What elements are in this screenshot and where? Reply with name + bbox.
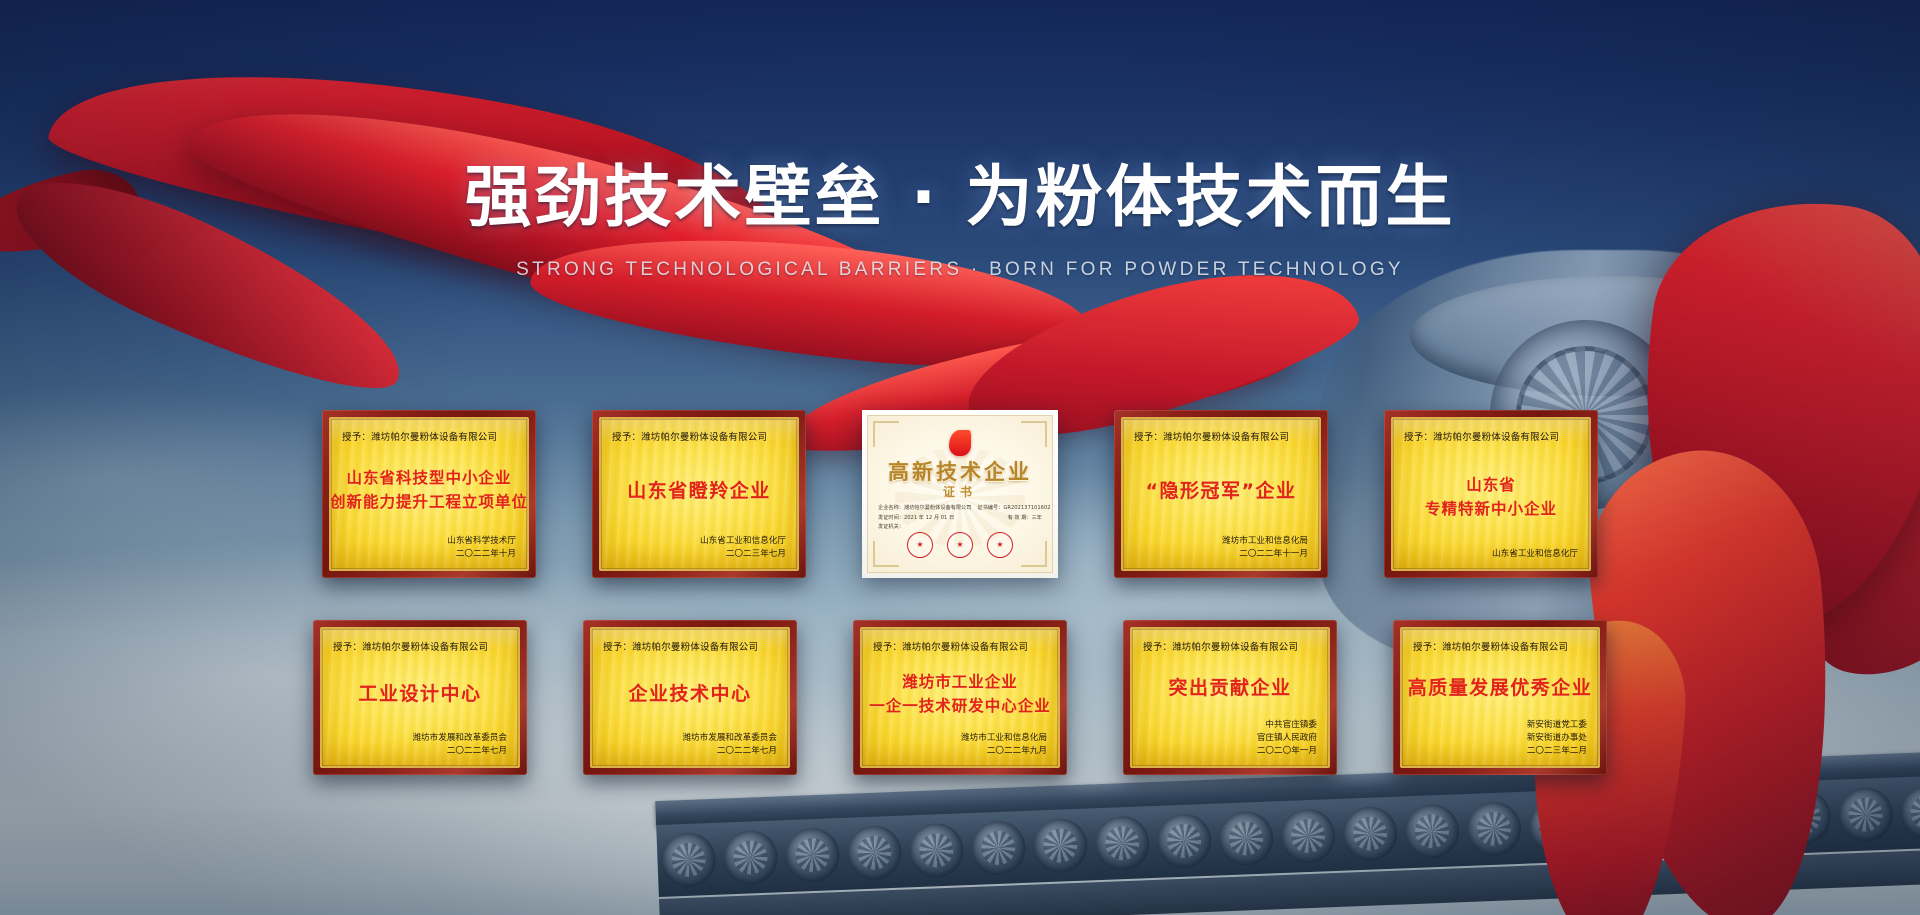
plaque-recipient-line: 授予：潍坊帕尔曼粉体设备有限公司 [1413,639,1587,653]
high-tech-enterprise-certificate[interactable]: 高新技术企业证书企业名称：潍坊帕尔曼粉体设备有限公司证书编号：GR2021371… [862,410,1058,578]
award-plaque[interactable]: 授予：潍坊帕尔曼粉体设备有限公司潍坊市工业企业一企一技术研发中心企业潍坊市工业和… [853,620,1067,775]
plaque-field: 授予：潍坊帕尔曼粉体设备有限公司“隐形冠军”企业潍坊市工业和信息化局二〇二二年十… [1123,419,1319,569]
certificate-corner-ornament-icon [1021,421,1047,447]
plaque-title-group: “隐形冠军”企业 [1134,445,1308,533]
plaque-issuer: 山东省工业和信息化厅 [1404,548,1578,561]
honors-gallery: 授予：潍坊帕尔曼粉体设备有限公司山东省科技型中小企业创新能力提升工程立项单位山东… [0,410,1920,775]
plaque-field: 授予：潍坊帕尔曼粉体设备有限公司突出贡献企业中共官庄镇委官庄镇人民政府二〇二〇年… [1132,629,1328,766]
plaque-title-group: 潍坊市工业企业一企一技术研发中心企业 [873,655,1047,730]
award-plaque[interactable]: 授予：潍坊帕尔曼粉体设备有限公司工业设计中心潍坊市发展和改革委员会二〇二二年七月 [313,620,527,775]
plaque-title-line: 山东省瞪羚企业 [627,476,771,503]
plaque-title-line: 创新能力提升工程立项单位 [331,490,527,512]
plaque-title-group: 山东省科技型中小企业创新能力提升工程立项单位 [342,445,516,533]
certificate-field-row: 企业名称：潍坊帕尔曼粉体设备有限公司证书编号：GR202137101602 [878,504,1042,514]
plaque-recipient-line: 授予：潍坊帕尔曼粉体设备有限公司 [333,639,507,653]
plaque-recipient-line: 授予：潍坊帕尔曼粉体设备有限公司 [873,639,1047,653]
plaque-issuer: 官庄镇人民政府 [1143,732,1317,745]
plaque-field: 授予：潍坊帕尔曼粉体设备有限公司山东省专精特新中小企业山东省工业和信息化厅 [1393,419,1589,569]
certificate-inner: 高新技术企业证书企业名称：潍坊帕尔曼粉体设备有限公司证书编号：GR2021371… [867,415,1053,573]
plaque-title-group: 山东省瞪羚企业 [612,445,786,533]
headline-block: 强劲技术壁垒 · 为粉体技术而生 STRONG TECHNOLOGICAL BA… [0,160,1920,281]
award-plaque[interactable]: 授予：潍坊帕尔曼粉体设备有限公司企业技术中心潍坊市发展和改革委员会二〇二二年七月 [583,620,797,775]
plaque-title-line: 专精特新中小企业 [1425,497,1557,519]
certificate-seal-group [868,532,1052,558]
plaque-field: 授予：潍坊帕尔曼粉体设备有限公司工业设计中心潍坊市发展和改革委员会二〇二二年七月 [322,629,518,766]
plaque-date: 二〇二〇年一月 [1143,745,1317,758]
plaque-recipient-line: 授予：潍坊帕尔曼粉体设备有限公司 [1143,639,1317,653]
honors-row-2: 授予：潍坊帕尔曼粉体设备有限公司工业设计中心潍坊市发展和改革委员会二〇二二年七月… [0,620,1920,775]
plaque-issuer-block: 潍坊市发展和改革委员会二〇二二年七月 [603,732,777,758]
plaque-issuer: 新安街道党工委 [1413,719,1587,732]
plaque-title-line: 工业设计中心 [358,679,481,706]
plaque-title-group: 高质量发展优秀企业 [1413,655,1587,717]
banner-stage: 强劲技术壁垒 · 为粉体技术而生 STRONG TECHNOLOGICAL BA… [0,0,1920,915]
plaque-recipient-line: 授予：潍坊帕尔曼粉体设备有限公司 [612,429,786,443]
plaque-title-line: “隐形冠军”企业 [1146,476,1297,503]
award-plaque[interactable]: 授予：潍坊帕尔曼粉体设备有限公司高质量发展优秀企业新安街道党工委新安街道办事处二… [1393,620,1607,775]
plaque-date: 二〇二三年二月 [1413,745,1587,758]
plaque-title-group: 山东省专精特新中小企业 [1404,445,1578,546]
award-plaque[interactable]: 授予：潍坊帕尔曼粉体设备有限公司“隐形冠军”企业潍坊市工业和信息化局二〇二二年十… [1114,410,1328,578]
plaque-recipient-line: 授予：潍坊帕尔曼粉体设备有限公司 [603,639,777,653]
certificate-corner-ornament-icon [873,421,899,447]
certificate-title: 高新技术企业 [868,456,1052,486]
certificate-field-right: 有 效 期：三年 [1008,514,1042,524]
certificate-field-right: 证书编号：GR202137101602 [977,504,1050,514]
plaque-issuer-block: 中共官庄镇委官庄镇人民政府二〇二〇年一月 [1143,719,1317,758]
plaque-field: 授予：潍坊帕尔曼粉体设备有限公司山东省瞪羚企业山东省工业和信息化厅二〇二三年七月 [601,419,797,569]
plaque-issuer: 山东省工业和信息化厅 [612,535,786,548]
plaque-title-line: 突出贡献企业 [1168,673,1291,700]
certificate-field-row: 发证时间：2021 年 12 月 01 日有 效 期：三年 [878,514,1042,524]
plaque-issuer: 潍坊市工业和信息化局 [1134,535,1308,548]
plaque-field: 授予：潍坊帕尔曼粉体设备有限公司高质量发展优秀企业新安街道党工委新安街道办事处二… [1402,629,1598,766]
plaque-issuer: 新安街道办事处 [1413,732,1587,745]
plaque-recipient-line: 授予：潍坊帕尔曼粉体设备有限公司 [1134,429,1308,443]
plaque-title-line: 一企一技术研发中心企业 [869,694,1051,716]
certificate-field-left: 发证时间：2021 年 12 月 01 日 [878,514,954,524]
plaque-title-group: 工业设计中心 [333,655,507,730]
plaque-issuer: 山东省科学技术厅 [342,535,516,548]
plaque-recipient-line: 授予：潍坊帕尔曼粉体设备有限公司 [342,429,516,443]
honors-row-1: 授予：潍坊帕尔曼粉体设备有限公司山东省科技型中小企业创新能力提升工程立项单位山东… [0,410,1920,578]
plaque-field: 授予：潍坊帕尔曼粉体设备有限公司潍坊市工业企业一企一技术研发中心企业潍坊市工业和… [862,629,1058,766]
award-plaque[interactable]: 授予：潍坊帕尔曼粉体设备有限公司突出贡献企业中共官庄镇委官庄镇人民政府二〇二〇年… [1123,620,1337,775]
plaque-issuer-block: 山东省工业和信息化厅二〇二三年七月 [612,535,786,561]
plaque-issuer-block: 潍坊市工业和信息化局二〇二二年九月 [873,732,1047,758]
award-plaque[interactable]: 授予：潍坊帕尔曼粉体设备有限公司山东省专精特新中小企业山东省工业和信息化厅 [1384,410,1598,578]
page-subtitle: STRONG TECHNOLOGICAL BARRIERS · BORN FOR… [0,259,1920,281]
plaque-issuer-block: 潍坊市发展和改革委员会二〇二二年七月 [333,732,507,758]
plaque-issuer-block: 山东省科学技术厅二〇二二年十月 [342,535,516,561]
plaque-date: 二〇二二年七月 [333,745,507,758]
plaque-date: 二〇二二年七月 [603,745,777,758]
plaque-title-line: 山东省 [1466,473,1516,495]
plaque-field: 授予：潍坊帕尔曼粉体设备有限公司企业技术中心潍坊市发展和改革委员会二〇二二年七月 [592,629,788,766]
page-title: 强劲技术壁垒 · 为粉体技术而生 [0,160,1920,235]
plaque-title-group: 突出贡献企业 [1143,655,1317,717]
award-plaque[interactable]: 授予：潍坊帕尔曼粉体设备有限公司山东省瞪羚企业山东省工业和信息化厅二〇二三年七月 [592,410,806,578]
plaque-title-line: 企业技术中心 [628,679,751,706]
plaque-issuer: 潍坊市工业和信息化局 [873,732,1047,745]
certificate-subtitle: 证书 [868,483,1052,500]
plaque-issuer: 潍坊市发展和改革委员会 [333,732,507,745]
certificate-field-left: 企业名称：潍坊帕尔曼粉体设备有限公司 [878,504,971,514]
plaque-issuer-block: 山东省工业和信息化厅 [1404,548,1578,561]
plaque-date: 二〇二二年十一月 [1134,548,1308,561]
plaque-recipient-line: 授予：潍坊帕尔曼粉体设备有限公司 [1404,429,1578,443]
official-red-seal-icon [947,532,973,558]
official-red-seal-icon [987,532,1013,558]
plaque-title-line: 潍坊市工业企业 [902,670,1018,692]
plaque-title-line: 高质量发展优秀企业 [1408,673,1593,700]
flame-emblem-icon [949,430,971,456]
plaque-title-group: 企业技术中心 [603,655,777,730]
plaque-title-line: 山东省科技型中小企业 [346,466,511,488]
plaque-date: 二〇二三年七月 [612,548,786,561]
plaque-date: 二〇二二年九月 [873,745,1047,758]
plaque-issuer: 潍坊市发展和改革委员会 [603,732,777,745]
plaque-field: 授予：潍坊帕尔曼粉体设备有限公司山东省科技型中小企业创新能力提升工程立项单位山东… [331,419,527,569]
plaque-date: 二〇二二年十月 [342,548,516,561]
award-plaque[interactable]: 授予：潍坊帕尔曼粉体设备有限公司山东省科技型中小企业创新能力提升工程立项单位山东… [322,410,536,578]
official-red-seal-icon [907,532,933,558]
plaque-issuer-block: 新安街道党工委新安街道办事处二〇二三年二月 [1413,719,1587,758]
plaque-issuer: 中共官庄镇委 [1143,719,1317,732]
plaque-issuer-block: 潍坊市工业和信息化局二〇二二年十一月 [1134,535,1308,561]
certificate-field-list: 企业名称：潍坊帕尔曼粉体设备有限公司证书编号：GR202137101602发证时… [878,504,1042,533]
